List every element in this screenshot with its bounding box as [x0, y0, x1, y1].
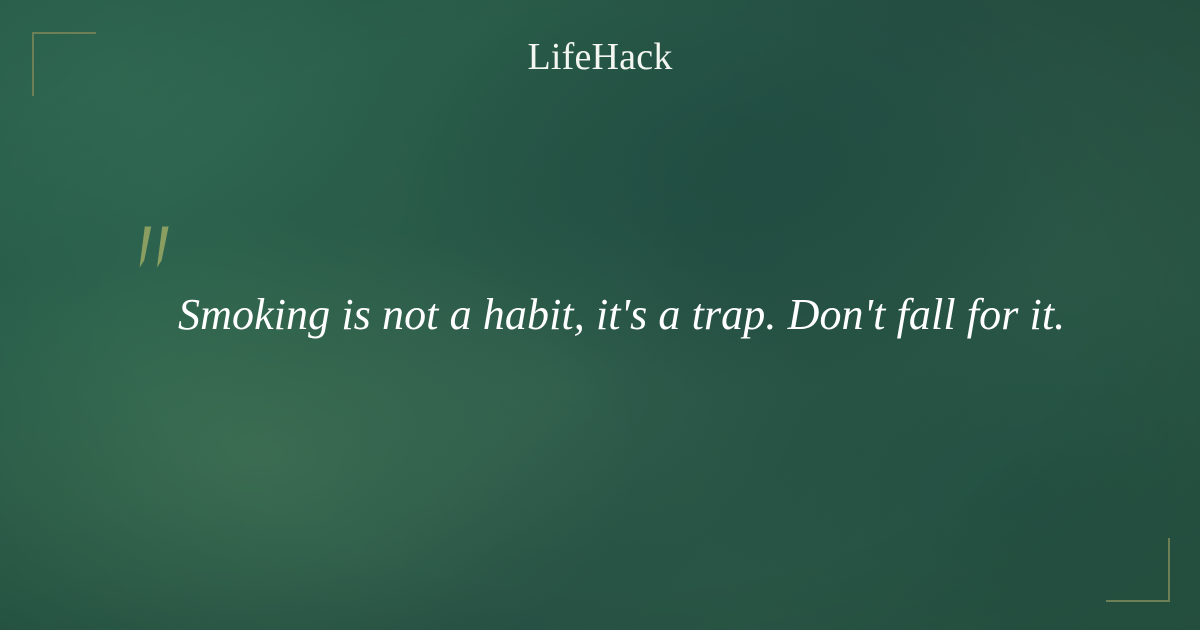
- corner-bracket-bottom-right-icon: [1106, 538, 1170, 602]
- quote-text: Smoking is not a habit, it's a trap. Don…: [178, 288, 1138, 343]
- brand-logo: LifeHack: [0, 38, 1200, 76]
- quote-card: LifeHack Smoking is not a habit, it's a …: [0, 0, 1200, 630]
- quote-block: Smoking is not a habit, it's a trap. Don…: [178, 288, 1138, 343]
- quotation-mark-icon: [131, 224, 177, 272]
- brand-name: LifeHack: [527, 38, 672, 76]
